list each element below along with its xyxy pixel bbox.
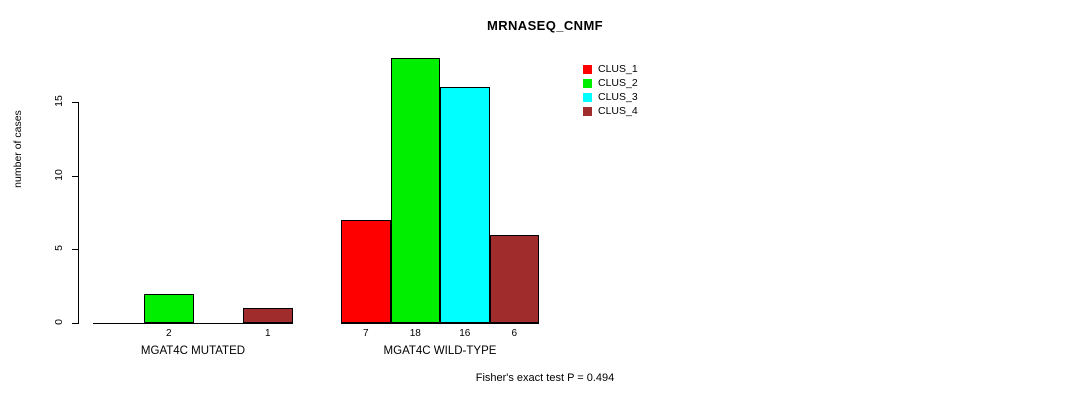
legend-item-label: CLUS_3 [598,92,638,102]
chart-title: MRNASEQ_CNMF [0,18,1090,33]
legend-item-clus_3[interactable]: CLUS_3 [583,90,638,104]
bar-count-label: 16 [440,328,490,339]
statistical-annotation: Fisher's exact test P = 0.494 [0,372,1090,384]
legend-item-label: CLUS_1 [598,64,638,74]
y-axis-tick [72,323,79,324]
legend-item-clus_2[interactable]: CLUS_2 [583,76,638,90]
y-axis-tick-label: 15 [53,89,65,113]
y-axis-tick-label: 0 [53,310,65,334]
legend-swatch-icon [583,65,592,74]
x-axis-group-label: MGAT4C WILD-TYPE [341,345,539,357]
chart-plot-area: MRNASEQ_CNMF number of cases 051015 21MG… [0,0,1090,400]
x-axis-baseline [341,323,539,324]
x-axis-baseline [93,323,293,324]
x-axis-group-label: MGAT4C MUTATED [93,345,293,357]
bar-clus_4-mgat4c-mutated[interactable] [243,308,293,323]
bar-count-label: 6 [490,328,540,339]
bar-count-label: 2 [144,328,194,339]
y-axis-tick [72,249,79,250]
legend-item-label: CLUS_4 [598,106,638,116]
legend-item-clus_1[interactable]: CLUS_1 [583,62,638,76]
legend-item-label: CLUS_2 [598,78,638,88]
y-axis-label: number of cases [12,79,24,219]
bar-count-label: 7 [341,328,391,339]
legend-swatch-icon [583,107,592,116]
bar-clus_3-mgat4c-wild-type[interactable] [440,87,490,323]
y-axis-tick [72,176,79,177]
y-axis-tick-label: 5 [53,236,65,260]
bar-clus_2-mgat4c-mutated[interactable] [144,294,194,323]
y-axis-tick [72,102,79,103]
legend-item-clus_4[interactable]: CLUS_4 [583,104,638,118]
y-axis-line [78,102,79,324]
bar-clus_2-mgat4c-wild-type[interactable] [391,58,441,323]
legend-swatch-icon [583,93,592,102]
bar-clus_1-mgat4c-wild-type[interactable] [341,220,391,323]
bar-clus_4-mgat4c-wild-type[interactable] [490,235,540,323]
chart-legend: CLUS_1CLUS_2CLUS_3CLUS_4 [583,62,638,118]
legend-swatch-icon [583,79,592,88]
bar-count-label: 18 [391,328,441,339]
bar-count-label: 1 [243,328,293,339]
y-axis-tick-label: 10 [53,163,65,187]
